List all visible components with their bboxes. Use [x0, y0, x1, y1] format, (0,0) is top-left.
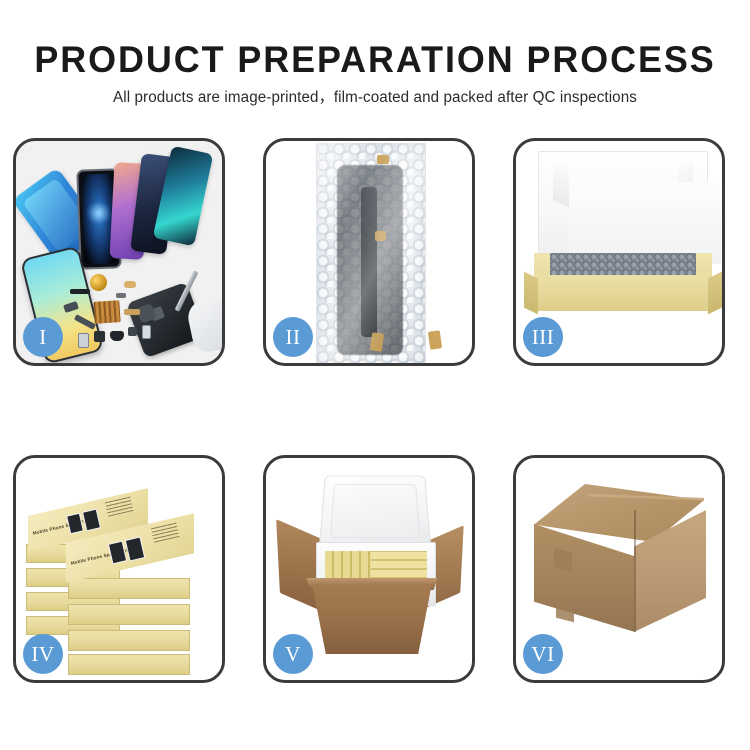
component-part [78, 333, 89, 348]
lid-flap-left [553, 161, 569, 207]
carton-corner-seam [634, 510, 636, 632]
component-part [124, 281, 136, 288]
chip-grid-icon [93, 300, 120, 324]
step-panel-5[interactable]: V [263, 455, 475, 683]
stacked-box [68, 630, 190, 651]
foam-sheet-icon [569, 182, 721, 264]
carton-tab [554, 548, 572, 572]
page-subtitle: All products are image-printed，film-coat… [8, 88, 743, 108]
speaker-coil-icon [90, 274, 107, 291]
page-header: PRODUCT PREPARATION PROCESS All products… [0, 0, 750, 120]
tape-piece [428, 330, 442, 349]
carton-left-face [534, 524, 635, 632]
box-front-panel [534, 275, 712, 311]
component-part [116, 293, 126, 298]
step-panel-1[interactable]: I [13, 138, 225, 366]
bubble-wrap-bag-icon [316, 143, 426, 363]
step-badge-5: V [273, 634, 313, 674]
component-part [128, 327, 137, 336]
box-lid-icon [538, 151, 708, 261]
component-part [124, 309, 140, 315]
step-badge-2: II [273, 317, 313, 357]
step-badge-6: VI [523, 634, 563, 674]
component-part [70, 289, 90, 294]
carton-tab [556, 600, 574, 622]
stacked-box [68, 578, 190, 599]
step-badge-1: I [23, 317, 63, 357]
styrofoam-lid-icon [319, 475, 432, 548]
process-step-grid: I II III [13, 138, 737, 683]
component-part [94, 331, 105, 342]
page-title: PRODUCT PREPARATION PROCESS [11, 40, 739, 80]
step-panel-3[interactable]: III [513, 138, 725, 366]
step-badge-3: III [523, 317, 563, 357]
stacked-box [68, 654, 190, 675]
step-panel-6[interactable]: VI [513, 455, 725, 683]
component-part [142, 325, 151, 339]
carton-body [304, 584, 440, 654]
step-panel-4[interactable]: Mobile Phone Spare Parts Mobile Phone Sp… [13, 455, 225, 683]
step-panel-2[interactable]: II [263, 138, 475, 366]
stacked-box [68, 604, 190, 625]
bubble-wrap-filler-icon [550, 253, 696, 277]
step-badge-4: IV [23, 634, 63, 674]
component-part [110, 331, 124, 341]
bag-sheen [317, 143, 425, 363]
